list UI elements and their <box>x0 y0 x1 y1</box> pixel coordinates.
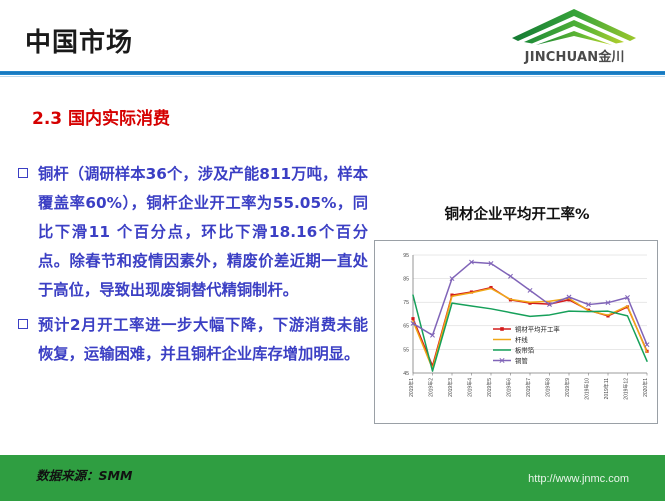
y-tick-label: 95 <box>403 253 409 259</box>
x-tick-label: 2019年11 <box>603 378 610 400</box>
legend-label: 杆线 <box>515 335 528 344</box>
bullet-item: 铜杆（调研样本36个，涉及产能811万吨，样本覆盖率60%），铜杆企业开工率为5… <box>16 160 368 305</box>
logo-text: JINCHUAN金川 <box>502 46 647 65</box>
y-tick-label: 85 <box>403 277 409 283</box>
legend-marker <box>500 327 504 331</box>
header-divider <box>0 71 665 75</box>
body-content: 铜杆（调研样本36个，涉及产能811万吨，样本覆盖率60%），铜杆企业开工率为5… <box>16 160 368 375</box>
chart-container: 4555657585952019年12019年22019年32019年42019… <box>374 240 658 424</box>
x-tick-label: 2019年10 <box>584 378 591 400</box>
website-url: http://www.jnmc.com <box>528 473 629 485</box>
x-tick-label: 2019年7 <box>525 378 532 397</box>
x-tick-label: 2019年6 <box>506 378 513 397</box>
data-source: 数据来源：SMM <box>36 465 132 484</box>
x-tick-label: 2019年1 <box>408 378 415 397</box>
logo-latin: JINCHUAN <box>525 50 599 65</box>
slide-header: 中国市场 <box>0 0 665 70</box>
logo-cn: 金川 <box>598 50 624 65</box>
slide-footer: 数据来源：SMM http://www.jnmc.com <box>0 453 665 501</box>
x-tick-label: 2019年5 <box>486 378 493 397</box>
page-title: 中国市场 <box>25 22 133 59</box>
x-tick-label: 2019年8 <box>545 378 552 397</box>
y-tick-label: 45 <box>403 371 409 377</box>
bullet-item: 预计2月开工率进一步大幅下降，下游消费未能恢复，运输困难，并且铜杆企业库存增加明… <box>16 311 368 369</box>
bullet-text: 铜杆（调研样本36个，涉及产能811万吨，样本覆盖率60%），铜杆企业开工率为5… <box>38 165 368 299</box>
legend-label: 铜管 <box>515 356 528 365</box>
data-source-label: 数据来源： <box>36 468 99 483</box>
data-source-value: SMM <box>99 468 133 483</box>
bullet-square-icon <box>18 319 28 329</box>
data-point-marker <box>411 317 414 320</box>
legend-label: 板带箔 <box>515 345 535 354</box>
x-tick-label: 2019年4 <box>467 378 474 397</box>
jinchuan-mountain-icon <box>512 8 637 46</box>
footer-top-line <box>0 453 665 455</box>
header-divider-thin <box>0 76 665 77</box>
x-tick-label: 2020年1 <box>642 378 649 397</box>
y-tick-label: 75 <box>403 300 409 306</box>
data-point-marker <box>528 288 532 292</box>
logo: JINCHUAN金川 <box>502 8 647 68</box>
bullet-square-icon <box>18 168 28 178</box>
x-tick-label: 2019年9 <box>564 378 571 397</box>
legend-label: 铜材平均开工率 <box>515 324 560 333</box>
y-tick-label: 65 <box>403 324 409 330</box>
section-heading: 2.3 国内实际消费 <box>32 104 170 129</box>
x-tick-label: 2019年3 <box>447 378 454 397</box>
line-chart: 4555657585952019年12019年22019年32019年42019… <box>375 241 657 423</box>
x-tick-label: 2019年2 <box>428 378 435 397</box>
chart-title: 铜材企业平均开工率% <box>372 203 662 224</box>
y-tick-label: 55 <box>403 347 409 353</box>
bullet-text: 预计2月开工率进一步大幅下降，下游消费未能恢复，运输困难，并且铜杆企业库存增加明… <box>38 316 368 363</box>
x-tick-label: 2019年12 <box>623 378 630 400</box>
data-point-marker <box>508 274 512 278</box>
